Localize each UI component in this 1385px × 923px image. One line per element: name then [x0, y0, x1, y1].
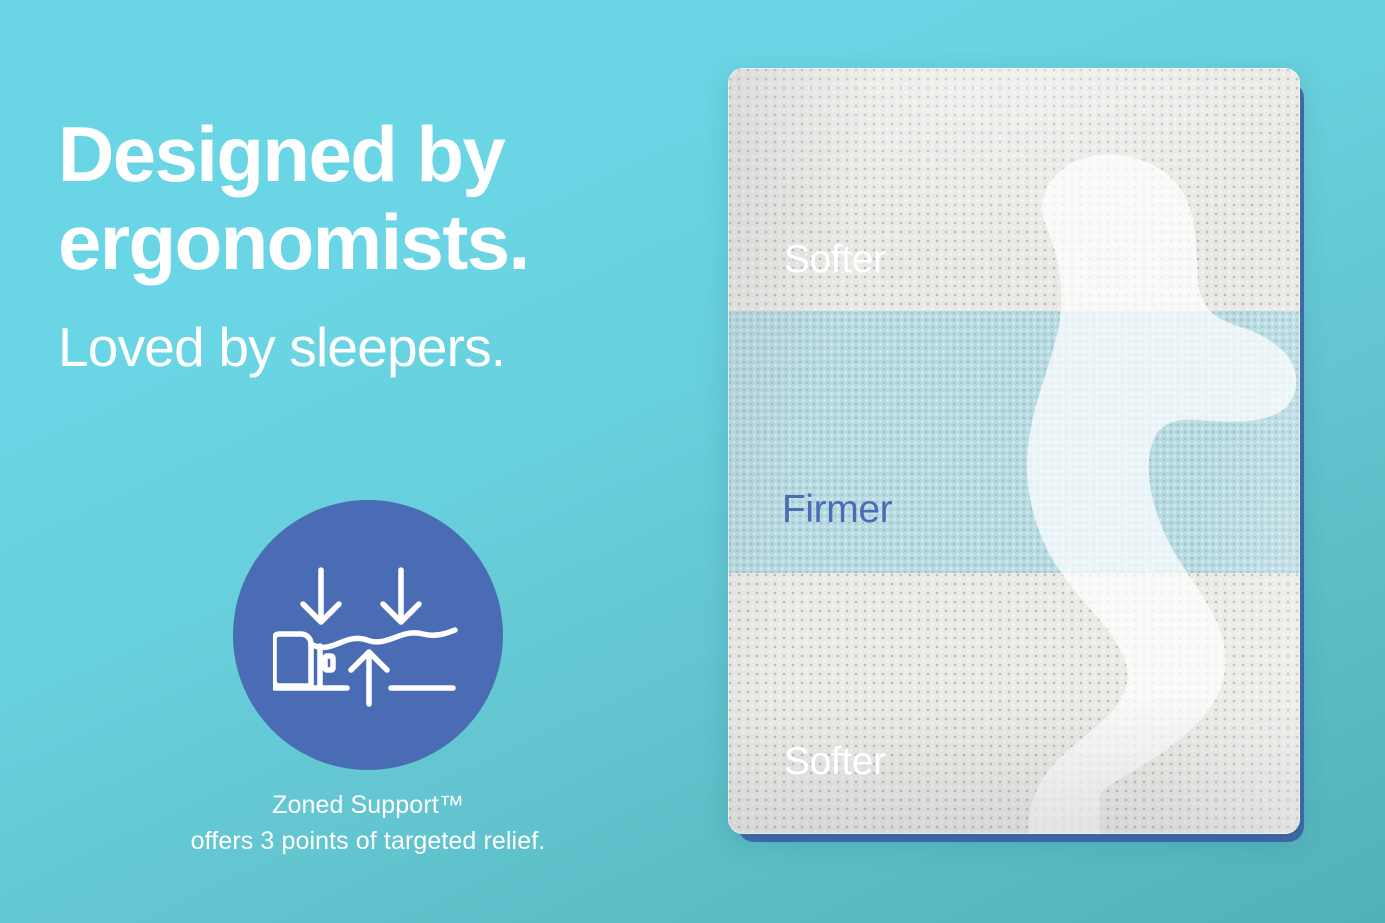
- badge-caption: Zoned Support™ offers 3 points of target…: [191, 788, 546, 859]
- knit-texture: [728, 311, 1300, 573]
- hero-subtitle: Loved by sleepers.: [58, 314, 678, 380]
- mattress-zone-soft-bottom: [728, 573, 1300, 834]
- zone-label-softer-bottom: Softer: [784, 740, 886, 784]
- badge-circle: [233, 500, 503, 770]
- zone-label-firmer: Firmer: [782, 488, 892, 532]
- mattress-zone-firm-middle: [728, 311, 1300, 573]
- mattress-product-image: Softer Firmer Softer: [728, 68, 1300, 834]
- mattress-surface: Softer Firmer Softer: [728, 68, 1300, 834]
- zone-label-softer-top: Softer: [784, 238, 886, 282]
- knit-texture: [728, 573, 1300, 834]
- zoned-support-pressure-icon: [273, 560, 463, 710]
- zoned-support-badge: Zoned Support™ offers 3 points of target…: [58, 500, 678, 859]
- hero-copy: Designed by ergonomists. Loved by sleepe…: [58, 110, 678, 380]
- page-title: Designed by ergonomists.: [58, 110, 678, 286]
